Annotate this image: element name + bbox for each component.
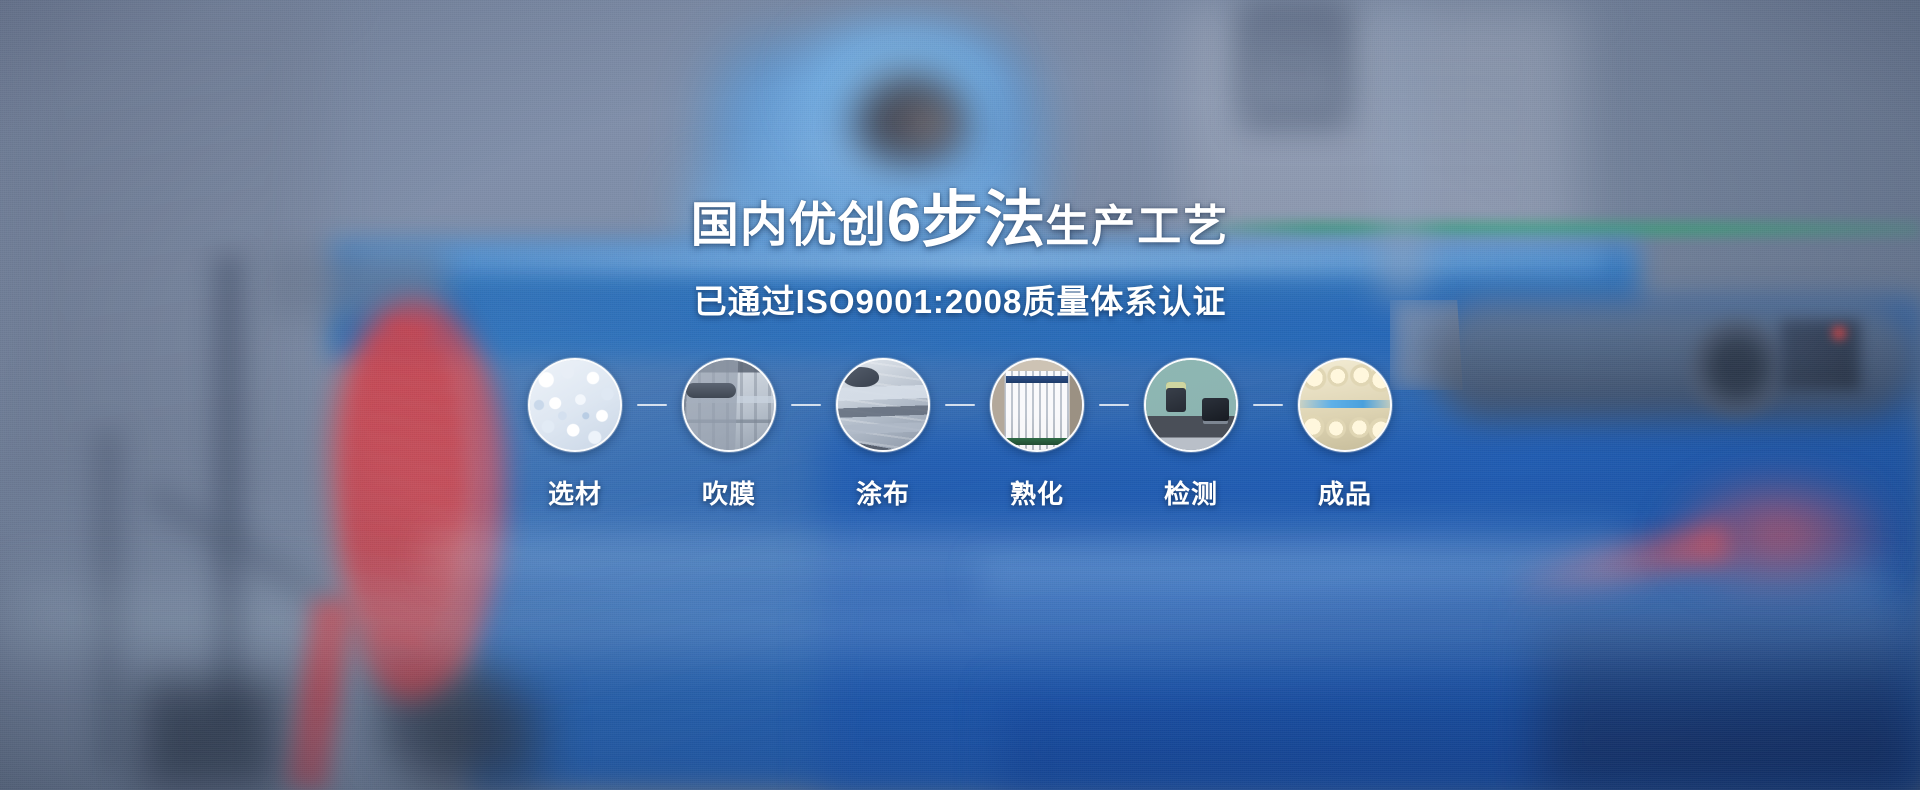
- process-step-3[interactable]: 涂布: [824, 358, 942, 511]
- step-connector-4: [1096, 358, 1132, 452]
- process-step-2[interactable]: 吹膜: [670, 358, 788, 511]
- production-process-banner: 国内优创6步法生产工艺 已通过ISO9001:2008质量体系认证 选材 吹膜: [0, 0, 1920, 790]
- connector-line-icon: [945, 404, 975, 406]
- process-step-5[interactable]: 检测: [1132, 358, 1250, 511]
- step-thumbnail-selection[interactable]: [528, 358, 622, 452]
- film-blowing-machine-icon: [684, 360, 774, 450]
- step-label-3: 涂布: [856, 474, 910, 511]
- banner-content: 国内优创6步法生产工艺 已通过ISO9001:2008质量体系认证 选材 吹膜: [0, 0, 1920, 790]
- step-label-2: 吹膜: [702, 474, 756, 511]
- step-thumbnail-curing[interactable]: [990, 358, 1084, 452]
- step-connector-3: [942, 358, 978, 452]
- step-thumbnail-blowing[interactable]: [682, 358, 776, 452]
- connector-line-icon: [791, 404, 821, 406]
- process-steps-list: 选材 吹膜 涂布 熟化: [0, 358, 1920, 511]
- step-connector-2: [788, 358, 824, 452]
- step-connector-5: [1250, 358, 1286, 452]
- process-step-1[interactable]: 选材: [516, 358, 634, 511]
- process-step-6[interactable]: 成品: [1286, 358, 1404, 511]
- resin-pellets-icon: [530, 360, 620, 450]
- connector-line-icon: [637, 404, 667, 406]
- process-step-4[interactable]: 熟化: [978, 358, 1096, 511]
- page-subtitle: 已通过ISO9001:2008质量体系认证: [0, 275, 1920, 323]
- step-thumbnail-testing[interactable]: [1144, 358, 1238, 452]
- page-title: 国内优创6步法生产工艺: [0, 190, 1920, 252]
- step-label-1: 选材: [548, 474, 602, 511]
- headline-suffix: 生产工艺: [1045, 202, 1229, 251]
- step-thumbnail-finished[interactable]: [1298, 358, 1392, 452]
- step-label-4: 熟化: [1010, 474, 1064, 511]
- headline-emphasis: 6步法: [887, 186, 1045, 255]
- headline-prefix: 国内优创: [691, 199, 887, 252]
- curing-room-icon: [992, 360, 1082, 450]
- step-label-5: 检测: [1164, 474, 1218, 511]
- finished-rolls-icon: [1300, 360, 1390, 450]
- connector-line-icon: [1253, 404, 1283, 406]
- step-thumbnail-coating[interactable]: [836, 358, 930, 452]
- step-label-6: 成品: [1318, 474, 1372, 511]
- step-connector-1: [634, 358, 670, 452]
- connector-line-icon: [1099, 404, 1129, 406]
- coating-line-icon: [838, 360, 928, 450]
- testing-lab-icon: [1146, 360, 1236, 450]
